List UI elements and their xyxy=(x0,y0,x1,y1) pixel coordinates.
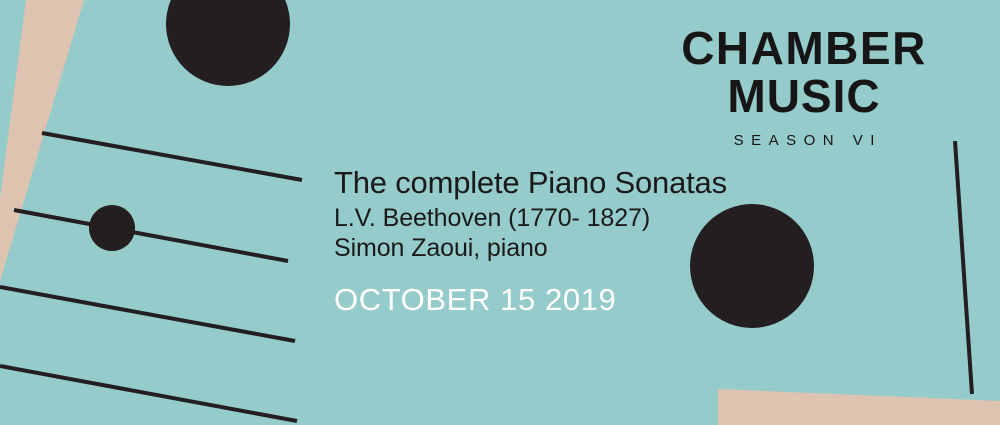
brand-block: CHAMBER MUSIC SEASON VI xyxy=(664,26,944,149)
program-performer: Simon Zaoui, piano xyxy=(334,234,727,264)
program-title: The complete Piano Sonatas xyxy=(334,166,727,201)
brand-title-line-1: CHAMBER xyxy=(664,26,944,71)
brand-season-label: SEASON VI xyxy=(664,132,944,149)
program-block: The complete Piano Sonatas L.V. Beethove… xyxy=(334,166,727,318)
music-note-head xyxy=(89,205,135,251)
program-date: OCTOBER 15 2019 xyxy=(334,282,727,318)
poster-canvas: CHAMBER MUSIC SEASON VI The complete Pia… xyxy=(0,0,1000,425)
program-composer: L.V. Beethoven (1770- 1827) xyxy=(334,204,727,234)
brand-title-line-2: MUSIC xyxy=(664,74,944,119)
